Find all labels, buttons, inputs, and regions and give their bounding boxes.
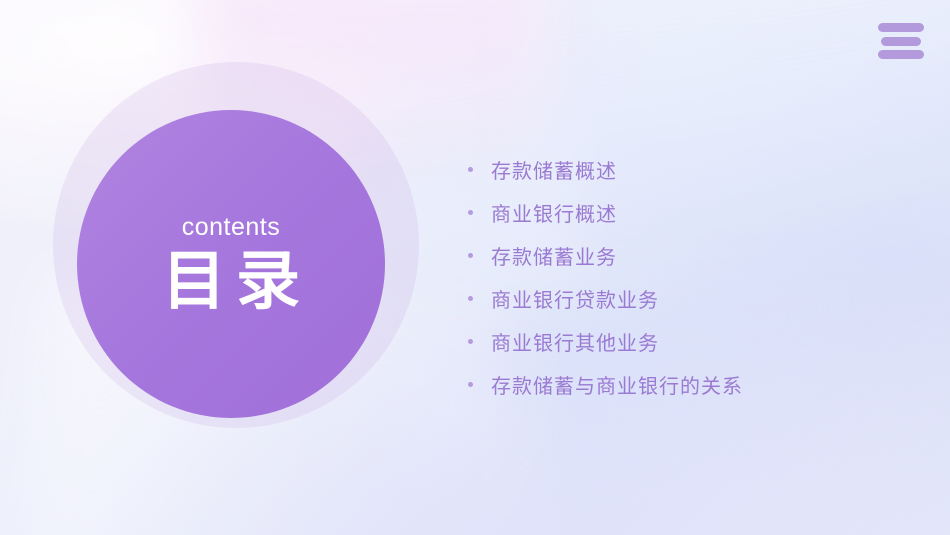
hamburger-bar-bottom	[878, 50, 924, 59]
contents-title: 目录	[162, 248, 310, 315]
hamburger-bar-middle	[881, 37, 921, 46]
list-item-label: 存款储蓄与商业银行的关系	[491, 370, 743, 399]
list-item-label: 存款储蓄概述	[491, 155, 617, 184]
bullet-icon	[468, 210, 473, 215]
contents-subtitle: contents	[182, 213, 281, 242]
bullet-icon	[468, 296, 473, 301]
list-item-label: 商业银行概述	[491, 198, 617, 227]
slide-canvas: contents 目录 存款储蓄概述 商业银行概述 存款储蓄业务 商业银行贷款业…	[0, 0, 950, 535]
contents-circle: contents 目录	[77, 110, 385, 418]
list-item[interactable]: 存款储蓄业务	[468, 234, 908, 277]
hamburger-menu-icon[interactable]	[878, 19, 924, 63]
bullet-icon	[468, 339, 473, 344]
list-item[interactable]: 商业银行其他业务	[468, 320, 908, 363]
list-item[interactable]: 存款储蓄与商业银行的关系	[468, 363, 908, 406]
bullet-icon	[468, 167, 473, 172]
list-item[interactable]: 存款储蓄概述	[468, 148, 908, 191]
list-item[interactable]: 商业银行贷款业务	[468, 277, 908, 320]
bullet-icon	[468, 253, 473, 258]
list-item-label: 商业银行贷款业务	[491, 284, 659, 313]
hamburger-bar-top	[878, 23, 924, 32]
bullet-icon	[468, 382, 473, 387]
table-of-contents-list: 存款储蓄概述 商业银行概述 存款储蓄业务 商业银行贷款业务 商业银行其他业务 存…	[468, 148, 908, 406]
list-item-label: 存款储蓄业务	[491, 241, 617, 270]
list-item-label: 商业银行其他业务	[491, 327, 659, 356]
list-item[interactable]: 商业银行概述	[468, 191, 908, 234]
